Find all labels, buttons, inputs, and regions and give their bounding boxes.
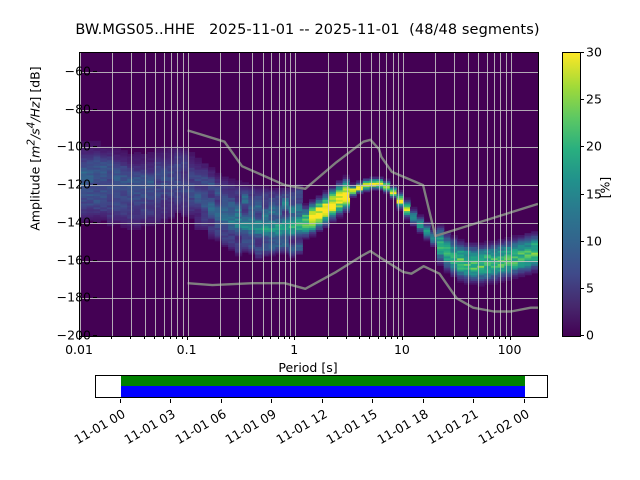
x-tick-mark	[453, 336, 454, 339]
gridline-vertical	[398, 53, 399, 336]
x-tick-mark	[182, 336, 183, 339]
gridline-vertical	[183, 53, 184, 336]
timeline-tick-mark	[120, 399, 121, 403]
timeline-tick-label: 11-01 12	[273, 406, 329, 447]
gridline-vertical	[454, 53, 455, 336]
y-tick-label: −140	[57, 214, 91, 229]
colorbar-tick-mark	[580, 52, 584, 53]
timeline-tick-mark	[170, 399, 171, 403]
y-tick-label: −80	[65, 101, 91, 116]
y-tick-mark	[93, 184, 97, 185]
colorbar-label: [%]	[598, 128, 613, 248]
x-tick-mark	[262, 336, 263, 339]
gridline-vertical	[290, 53, 291, 336]
timeline-tick-label: 11-01 03	[122, 406, 178, 447]
colorbar-tick-label: 5	[586, 280, 594, 295]
colorbar-tick-mark	[580, 335, 584, 336]
colorbar-tick-label: 25	[586, 92, 602, 107]
x-tick-mark	[238, 336, 239, 339]
colorbar[interactable]	[562, 52, 581, 337]
x-tick-label: 1	[290, 342, 298, 357]
gridline-vertical	[328, 53, 329, 336]
gridline-horizontal	[80, 110, 538, 111]
x-tick-mark	[385, 336, 386, 339]
gridline-vertical	[285, 53, 286, 336]
y-tick-label: −120	[57, 177, 91, 192]
x-tick-mark	[284, 336, 285, 339]
y-tick-label: −60	[65, 63, 91, 78]
timeline-tick-mark	[524, 399, 525, 403]
gridline-vertical	[478, 53, 479, 336]
coverage-timeline[interactable]	[95, 375, 548, 398]
x-tick-label: 10	[394, 342, 410, 357]
x-tick-label: 0.1	[177, 342, 197, 357]
x-tick-mark	[346, 336, 347, 339]
x-tick-mark	[493, 336, 494, 339]
x-tick-mark	[163, 336, 164, 339]
x-axis-label: Period [s]	[79, 360, 537, 375]
ppsd-plot-area[interactable]	[79, 52, 539, 337]
gridline-horizontal	[80, 72, 538, 73]
timeline-tick-label: 11-02 00	[475, 406, 531, 447]
gridline-vertical	[239, 53, 240, 336]
x-tick-mark	[187, 336, 188, 340]
y-tick-label: −100	[57, 139, 91, 154]
timeline-tick-label: 11-01 21	[425, 406, 481, 447]
y-tick-mark	[93, 222, 97, 223]
colorbar-tick-mark	[580, 194, 584, 195]
colorbar-tick-label: 0	[586, 328, 594, 343]
gridline-vertical	[252, 53, 253, 336]
x-tick-mark	[327, 336, 328, 339]
x-tick-mark	[397, 336, 398, 339]
y-tick-mark	[93, 71, 97, 72]
colorbar-tick-mark	[580, 146, 584, 147]
x-tick-mark	[111, 336, 112, 339]
timeline-tick-mark	[372, 399, 373, 403]
gridline-vertical	[403, 53, 404, 336]
y-tick-mark	[93, 109, 97, 110]
x-tick-label: 100	[498, 342, 522, 357]
timeline-tick-label: 11-01 15	[324, 406, 380, 447]
timeline-tick-mark	[322, 399, 323, 403]
x-tick-mark	[391, 336, 392, 339]
x-tick-mark	[434, 336, 435, 339]
timeline-tick-label: 11-01 09	[223, 406, 279, 447]
x-tick-mark	[278, 336, 279, 339]
y-tick-label: −200	[57, 328, 91, 343]
gridline-vertical	[295, 53, 296, 336]
timeline-tick-mark	[271, 399, 272, 403]
page-title: BW.MGS05..HHE 2025-11-01 -- 2025-11-01 (…	[0, 22, 615, 38]
gridline-vertical	[371, 53, 372, 336]
y-tick-mark	[93, 297, 97, 298]
y-tick-mark	[93, 146, 97, 147]
plot-canvas	[80, 53, 538, 336]
gridline-vertical	[271, 53, 272, 336]
x-tick-mark	[79, 336, 80, 340]
x-tick-mark	[402, 336, 403, 340]
gridline-vertical	[360, 53, 361, 336]
x-tick-mark	[176, 336, 177, 339]
gridline-vertical	[177, 53, 178, 336]
x-tick-mark	[359, 336, 360, 339]
x-tick-mark	[369, 336, 370, 339]
gridline-vertical	[468, 53, 469, 336]
x-tick-mark	[378, 336, 379, 339]
gridline-vertical	[379, 53, 380, 336]
y-axis-label: Amplitude [m2/s4/Hz] [dB]	[25, 19, 42, 279]
x-tick-mark	[467, 336, 468, 339]
gridline-vertical	[145, 53, 146, 336]
x-tick-mark	[144, 336, 145, 339]
gridline-vertical	[487, 53, 488, 336]
x-tick-mark	[486, 336, 487, 339]
y-tick-mark	[93, 335, 97, 336]
gridline-horizontal	[80, 298, 538, 299]
gridline-vertical	[393, 53, 394, 336]
gridline-horizontal	[80, 147, 538, 148]
x-tick-mark	[294, 336, 295, 340]
x-tick-mark	[510, 336, 511, 340]
y-tick-label: −160	[57, 252, 91, 267]
x-tick-label: 0.01	[65, 342, 93, 357]
x-tick-mark	[251, 336, 252, 339]
gridline-vertical	[494, 53, 495, 336]
x-tick-mark	[219, 336, 220, 339]
timeline-tick-label: 11-01 06	[172, 406, 228, 447]
noise-model-nhnm	[188, 130, 538, 236]
timeline-data-bar	[121, 376, 525, 386]
x-tick-mark	[477, 336, 478, 339]
gridline-vertical	[131, 53, 132, 336]
x-tick-mark	[154, 336, 155, 339]
gridline-vertical	[435, 53, 436, 336]
noise-model-curves	[80, 53, 538, 336]
timeline-tick-mark	[221, 399, 222, 403]
colorbar-tick-label: 30	[586, 45, 602, 60]
gridline-vertical	[155, 53, 156, 336]
gridline-vertical	[279, 53, 280, 336]
gridline-vertical	[220, 53, 221, 336]
y-tick-mark	[93, 260, 97, 261]
gridline-vertical	[112, 53, 113, 336]
gridline-vertical	[500, 53, 501, 336]
y-tick-label: −180	[57, 290, 91, 305]
gridline-vertical	[164, 53, 165, 336]
x-tick-mark	[505, 336, 506, 339]
x-tick-mark	[499, 336, 500, 339]
gridline-vertical	[386, 53, 387, 336]
gridline-vertical	[263, 53, 264, 336]
timeline-tick-label: 11-01 00	[71, 406, 127, 447]
x-tick-mark	[130, 336, 131, 339]
colorbar-tick-mark	[580, 288, 584, 289]
gridline-horizontal	[80, 223, 538, 224]
gridline-vertical	[511, 53, 512, 336]
x-tick-mark	[289, 336, 290, 339]
timeline-tick-label: 11-01 18	[374, 406, 430, 447]
gridline-vertical	[188, 53, 189, 336]
gridline-horizontal	[80, 261, 538, 262]
timeline-tick-mark	[423, 399, 424, 403]
timeline-segments-bar	[121, 386, 525, 397]
gridline-horizontal	[80, 185, 538, 186]
timeline-tick-mark	[473, 399, 474, 403]
colorbar-tick-mark	[580, 99, 584, 100]
x-tick-mark	[170, 336, 171, 339]
gridline-vertical	[506, 53, 507, 336]
colorbar-tick-mark	[580, 241, 584, 242]
gridline-vertical	[171, 53, 172, 336]
gridline-vertical	[347, 53, 348, 336]
x-tick-mark	[270, 336, 271, 339]
